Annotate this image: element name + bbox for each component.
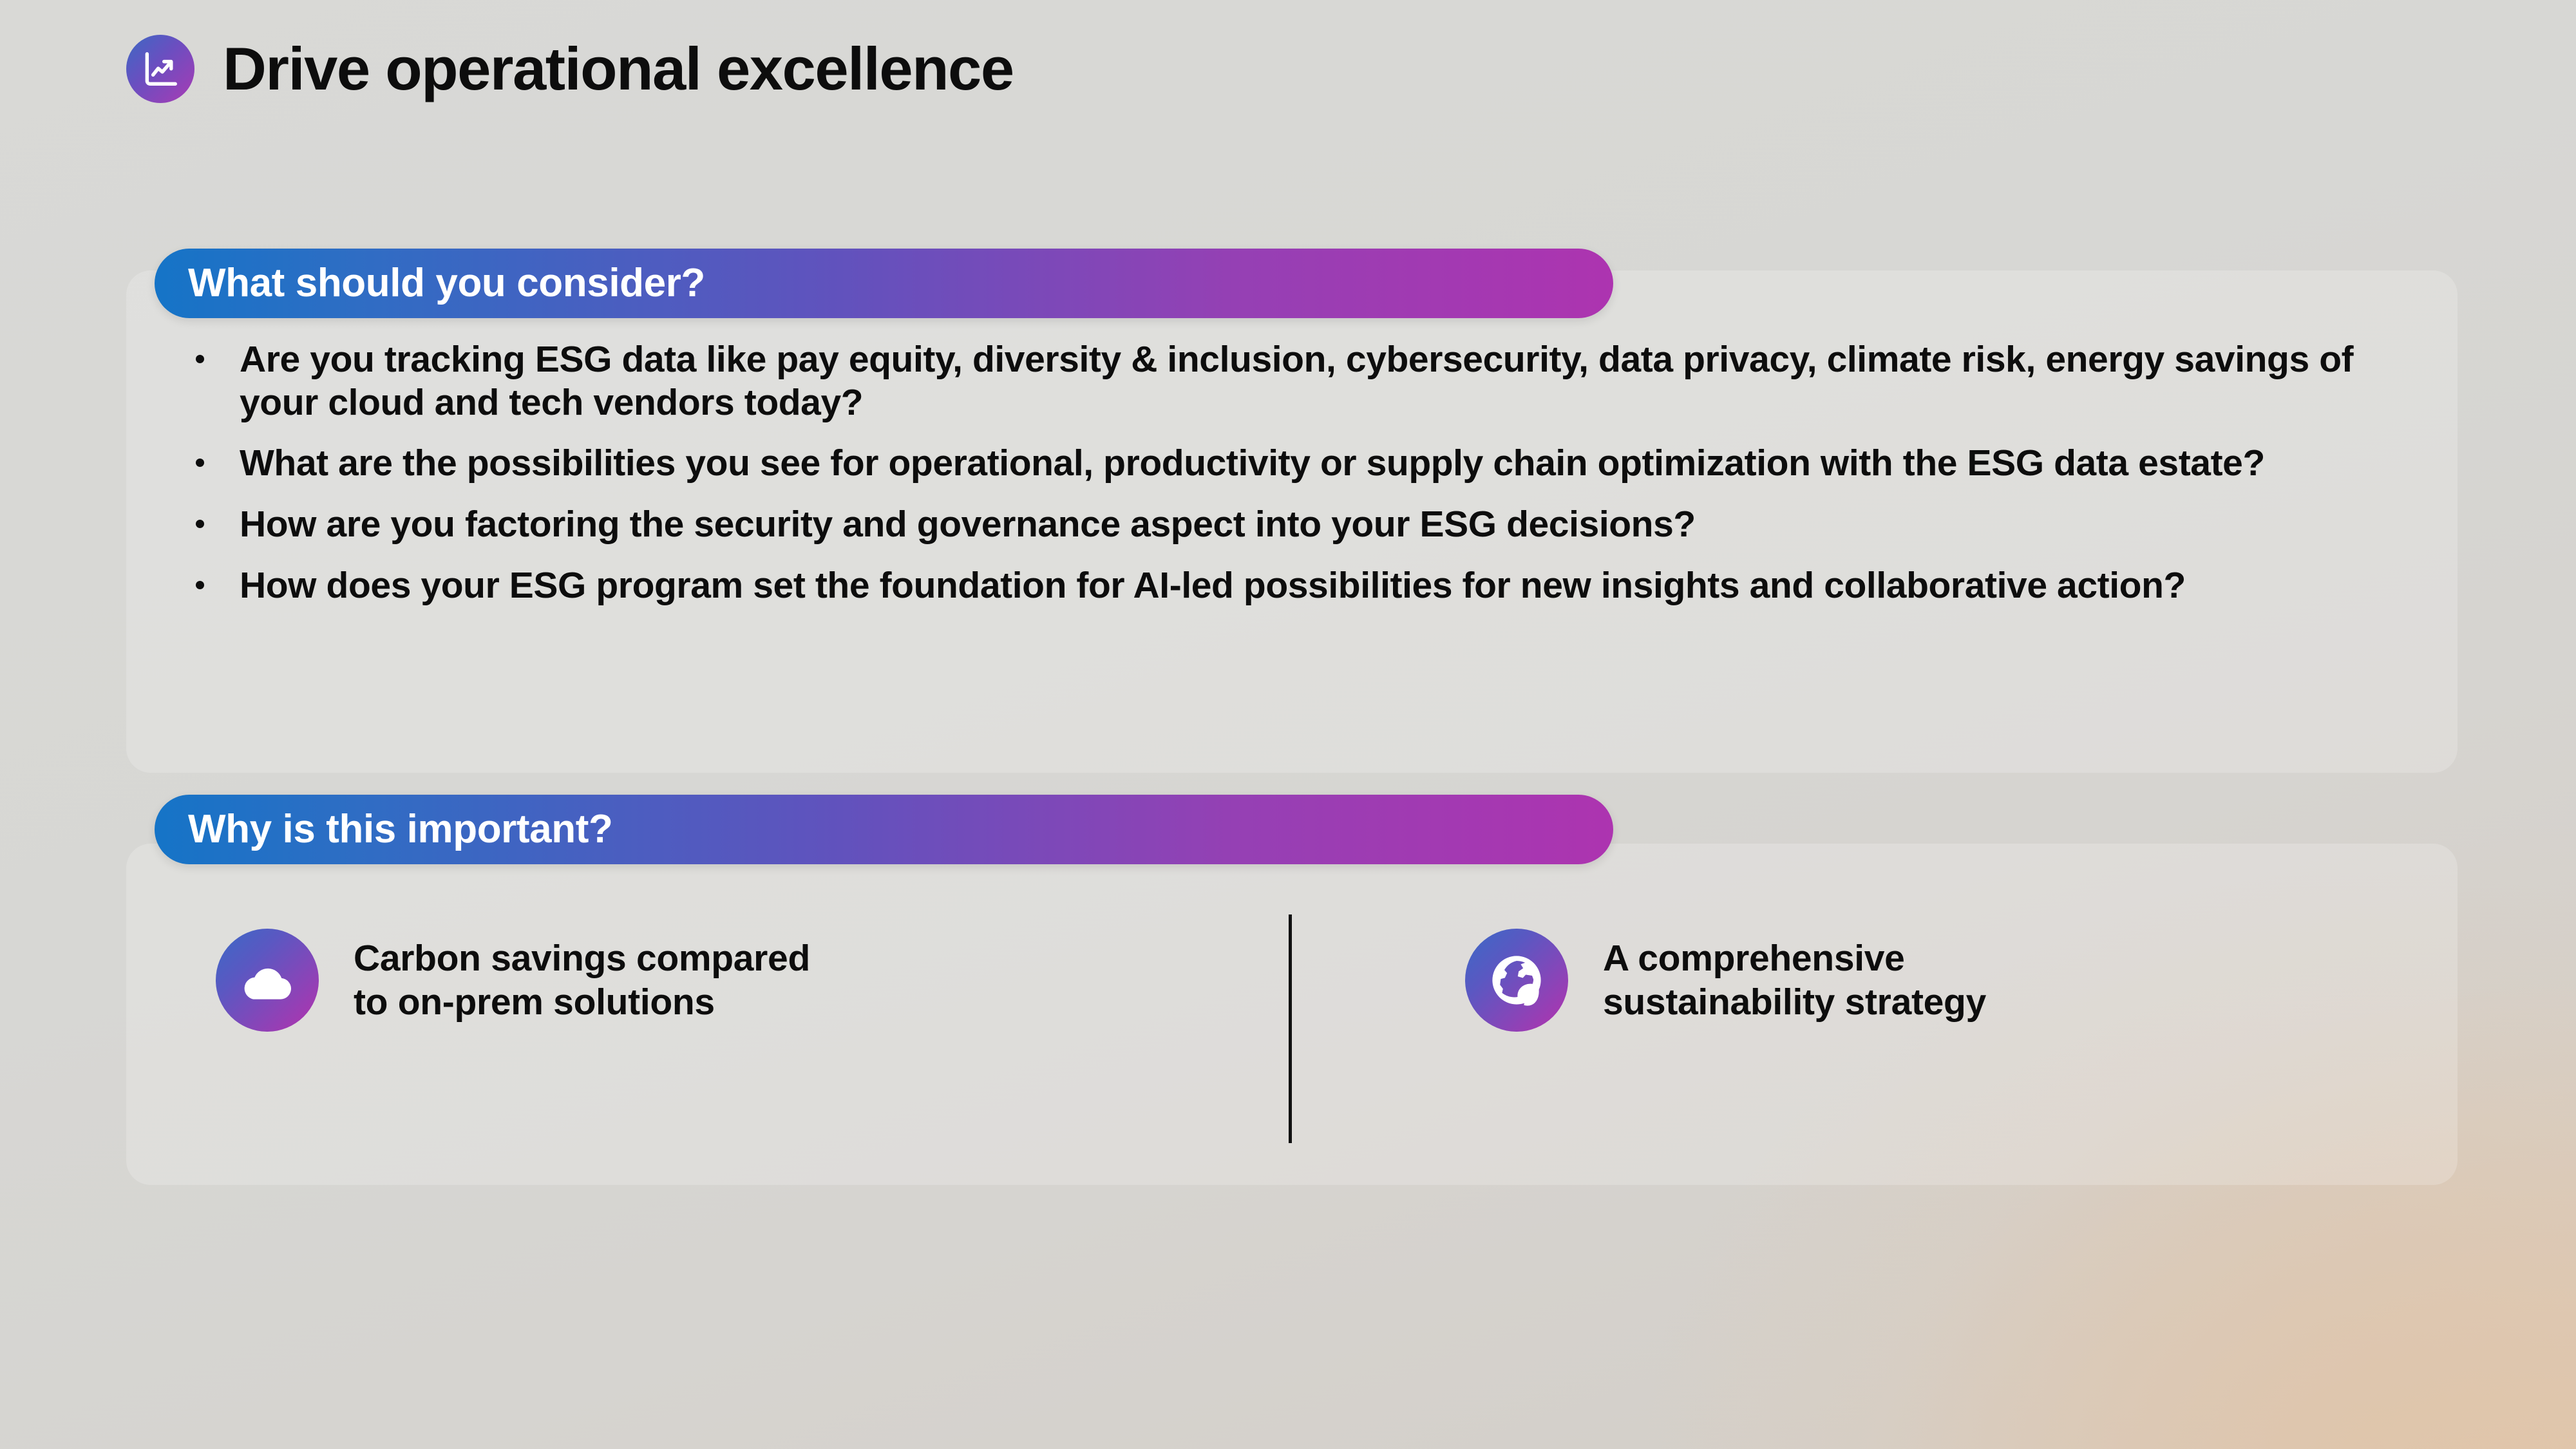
- bullet-dot-icon: [196, 355, 204, 363]
- chart-growth-icon: [126, 35, 194, 103]
- why-heading-pill: Why is this important?: [155, 795, 1613, 864]
- slide-header: Drive operational excellence: [126, 35, 1014, 103]
- benefits-row: Carbon savings compared to on-prem solut…: [126, 914, 2458, 1146]
- bullet-dot-icon: [196, 581, 204, 589]
- benefit-sustainability-strategy: A comprehensive sustainability strategy: [1465, 929, 1986, 1032]
- benefit-carbon-savings: Carbon savings compared to on-prem solut…: [216, 929, 810, 1032]
- benefits-divider: [1289, 914, 1292, 1143]
- globe-leaf-icon: [1465, 929, 1568, 1032]
- why-heading-label: Why is this important?: [155, 810, 612, 849]
- list-item: How are you factoring the security and g…: [182, 503, 2436, 546]
- bullet-dot-icon: [196, 459, 204, 467]
- benefit-label: A comprehensive sustainability strategy: [1603, 936, 1986, 1025]
- consider-bullet-list: Are you tracking ESG data like pay equit…: [182, 338, 2436, 607]
- bullet-text: Are you tracking ESG data like pay equit…: [240, 339, 2353, 423]
- benefit-label: Carbon savings compared to on-prem solut…: [354, 936, 810, 1025]
- bullet-text: How are you factoring the security and g…: [240, 504, 1696, 545]
- page-title: Drive operational excellence: [223, 39, 1014, 99]
- bullet-text: What are the possibilities you see for o…: [240, 442, 2265, 484]
- slide: Drive operational excellence What should…: [0, 0, 2576, 1449]
- consider-heading-label: What should you consider?: [155, 263, 705, 303]
- consider-heading-pill: What should you consider?: [155, 249, 1613, 318]
- list-item: How does your ESG program set the founda…: [182, 564, 2436, 607]
- bullet-dot-icon: [196, 520, 204, 528]
- list-item: What are the possibilities you see for o…: [182, 442, 2436, 485]
- list-item: Are you tracking ESG data like pay equit…: [182, 338, 2436, 424]
- cloud-icon: [216, 929, 319, 1032]
- bullet-text: How does your ESG program set the founda…: [240, 565, 2186, 606]
